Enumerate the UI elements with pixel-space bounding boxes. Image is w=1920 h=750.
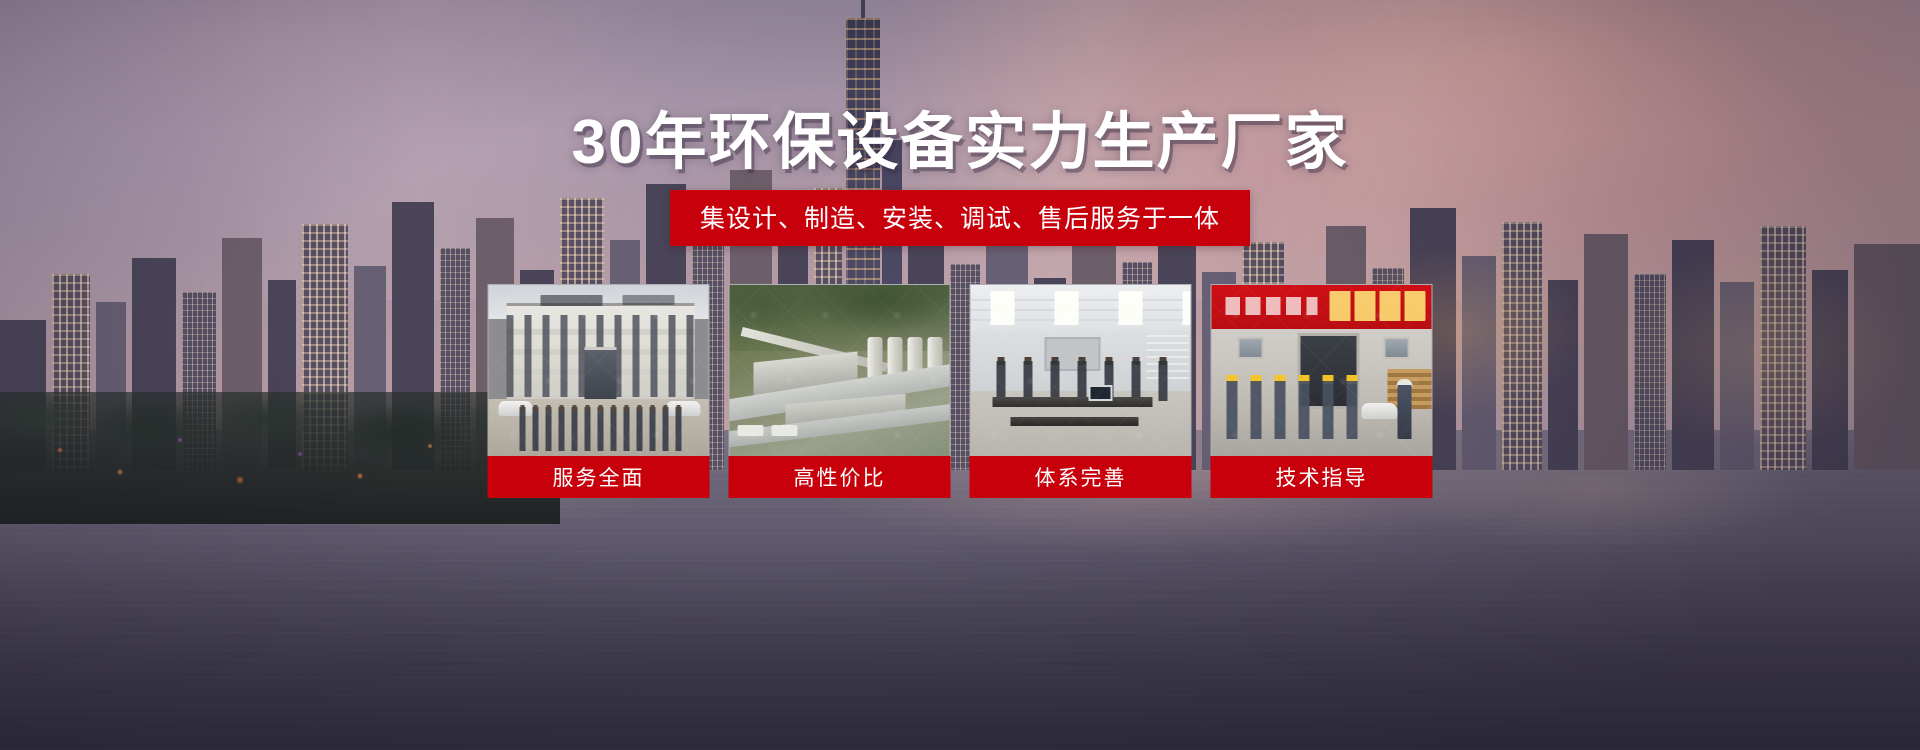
- office-team: [989, 361, 1175, 401]
- ceiling-lights: [971, 291, 1192, 325]
- building-phone-sign: [623, 295, 675, 305]
- card-caption-label: 服务全面: [553, 462, 645, 492]
- factory-window: [1238, 337, 1264, 359]
- factory-window: [1384, 337, 1410, 359]
- factory-red-banner: [1212, 285, 1433, 329]
- card-caption-label: 高性价比: [794, 462, 886, 492]
- building-sign: [541, 295, 603, 306]
- card-photo-factory-workers: [1211, 284, 1433, 456]
- card-photo-office-interior: [970, 284, 1192, 456]
- card-caption-bar: 高性价比: [729, 456, 951, 498]
- banner-content: 30年环保设备实力生产厂家 集设计、制造、安装、调试、售后服务于一体: [0, 0, 1920, 750]
- truck: [738, 425, 764, 436]
- feature-card[interactable]: 技术指导: [1211, 284, 1433, 498]
- card-photo-industrial-plant: [729, 284, 951, 456]
- feature-card[interactable]: 服务全面: [488, 284, 710, 498]
- factory-workers: [1222, 381, 1366, 439]
- feature-card[interactable]: 高性价比: [729, 284, 951, 498]
- card-caption-label: 技术指导: [1276, 462, 1368, 492]
- card-caption-bar: 技术指导: [1211, 456, 1433, 498]
- feature-card[interactable]: 体系完善: [970, 284, 1192, 498]
- hero-banner: 30年环保设备实力生产厂家 集设计、制造、安装、调试、售后服务于一体: [0, 0, 1920, 750]
- card-caption-label: 体系完善: [1035, 462, 1127, 492]
- monitor: [1089, 385, 1113, 401]
- card-photo-office-building: [488, 284, 710, 456]
- feature-card-row: 服务全面: [488, 284, 1433, 498]
- staff-lineup: [517, 407, 685, 451]
- truck: [772, 425, 798, 436]
- banner-subtitle-text: 集设计、制造、安装、调试、售后服务于一体: [700, 205, 1220, 233]
- supervisor: [1398, 385, 1412, 439]
- parked-car: [1362, 403, 1398, 419]
- card-caption-bar: 体系完善: [970, 456, 1192, 498]
- banner-headline: 30年环保设备实力生产厂家: [0, 108, 1920, 177]
- card-caption-bar: 服务全面: [488, 456, 710, 498]
- banner-subtitle-bar: 集设计、制造、安装、调试、售后服务于一体: [670, 190, 1250, 246]
